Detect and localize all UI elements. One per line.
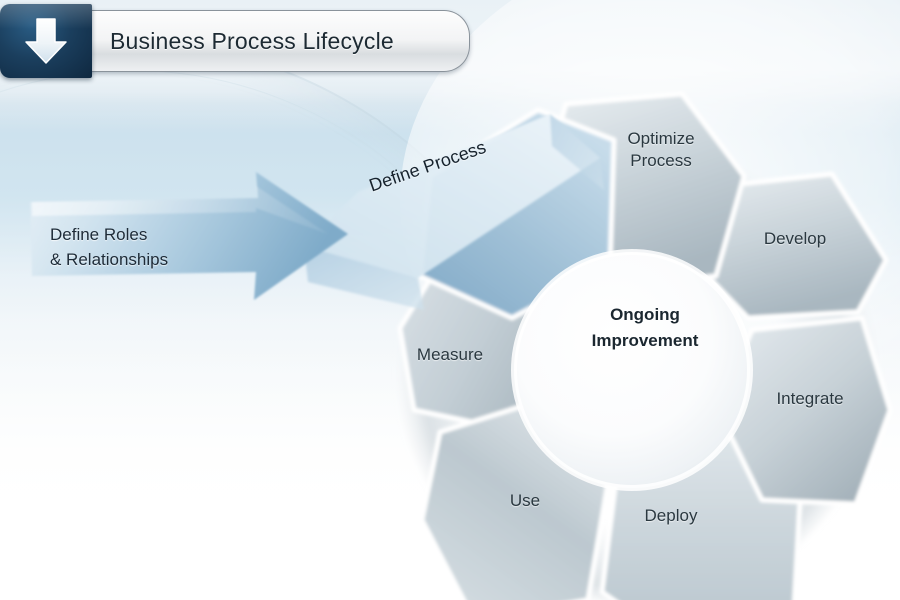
header-banner: Business Process Lifecycle: [0, 4, 470, 78]
arrow-label-line2: & Relationships: [50, 247, 265, 272]
arrow-label-line1: Define Roles: [50, 222, 265, 247]
page-title: Business Process Lifecycle: [110, 28, 394, 55]
arrow-label-define-roles: Define Roles & Relationships: [50, 222, 265, 272]
header-tab: Business Process Lifecycle: [88, 10, 470, 72]
download-arrow-icon: [0, 4, 92, 78]
diagram-canvas: Optimize Process Develop Integrate Deplo…: [0, 0, 900, 600]
